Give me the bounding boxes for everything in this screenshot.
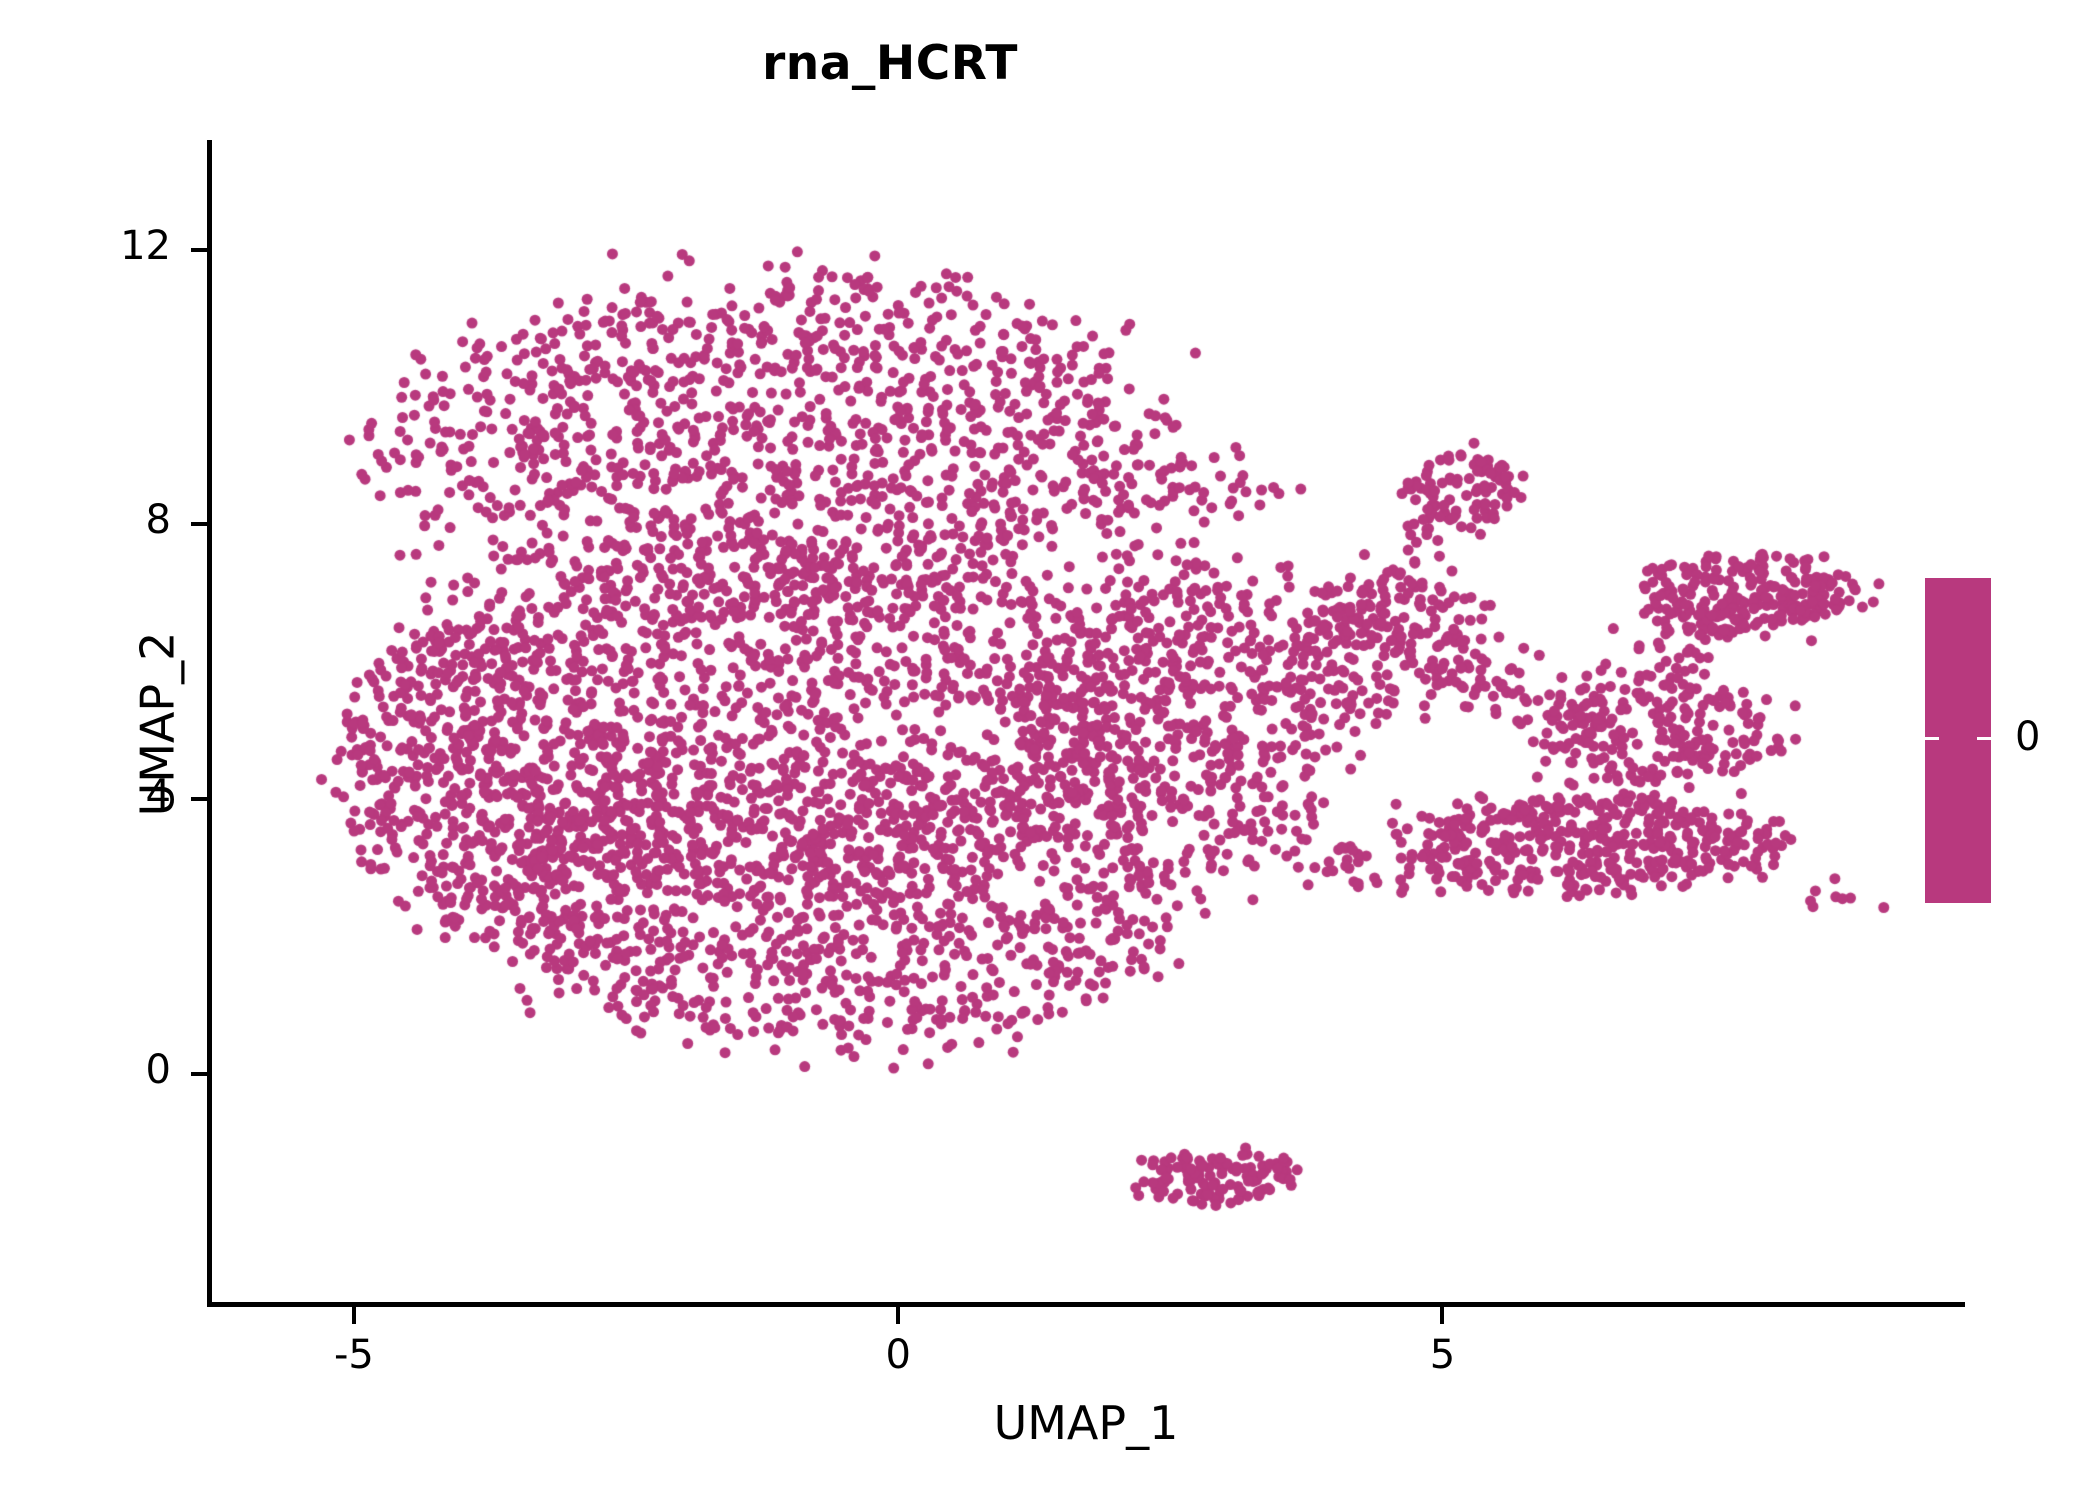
y-tick-label: 0: [0, 1047, 171, 1093]
x-tick-label: 5: [1342, 1332, 1542, 1378]
x-tick-mark: [896, 1307, 900, 1324]
x-tick-mark: [352, 1307, 356, 1324]
x-tick-mark: [1440, 1307, 1444, 1324]
page-title: rna_HCRT: [0, 36, 1780, 91]
y-tick-label: 12: [0, 223, 171, 269]
colorbar-tick-label: 0: [2015, 714, 2040, 760]
y-tick-mark: [191, 248, 207, 252]
x-tick-label: 0: [798, 1332, 998, 1378]
scatter-plot-canvas: [207, 140, 1965, 1307]
y-axis-spine: [207, 140, 212, 1307]
x-tick-label: -5: [254, 1332, 454, 1378]
colorbar-legend[interactable]: 0: [1925, 578, 2085, 903]
chart-figure: rna_HCRT 04812 -505 UMAP_2 UMAP_1 0: [0, 0, 2100, 1500]
y-axis-label: UMAP_2: [130, 631, 184, 816]
y-tick-mark: [191, 522, 207, 526]
y-tick-mark: [191, 1072, 207, 1076]
colorbar-tick-right: [1977, 737, 1991, 740]
y-tick-label: 8: [0, 497, 171, 543]
colorbar-tick-left: [1925, 737, 1939, 740]
x-axis-spine: [207, 1302, 1965, 1307]
y-tick-mark: [191, 797, 207, 801]
plot-axes: 04812 -505 UMAP_2 UMAP_1: [207, 140, 1965, 1307]
x-axis-label: UMAP_1: [207, 1396, 1965, 1450]
colorbar-gradient-bar: [1925, 578, 1991, 903]
